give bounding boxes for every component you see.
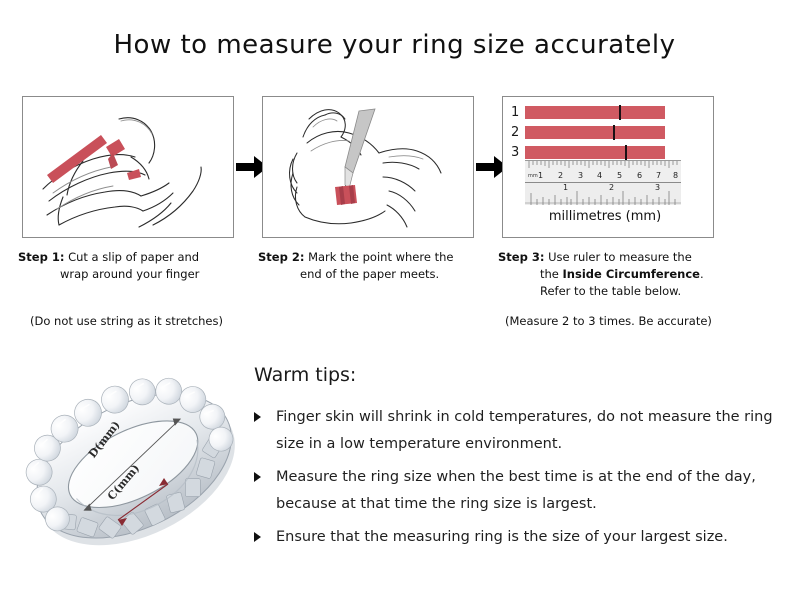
strip-row: 3 [511,144,707,161]
warm-tip-item: Finger skin will shrink in cold temperat… [254,404,774,458]
ruler-unit-mm: mm [528,173,538,179]
step-2-caption: Step 2: Mark the point where the end of … [258,249,488,283]
measured-strips-group: 1 2 3 [511,104,707,164]
paper-strip-on-finger-shape [335,185,357,205]
step-3-caption: Step 3: Use ruler to measure the the Ins… [498,249,748,300]
step-2-caption-line-2: end of the paper meets. [258,266,488,283]
ruler-metric-label: 1 [538,172,543,180]
strip-row: 2 [511,124,707,141]
warm-tip-text: Ensure that the measuring ring is the si… [276,529,728,545]
warm-tips-section: Warm tips: Finger skin will shrink in co… [254,364,774,557]
triangle-bullet-icon [254,532,261,542]
ruler-unit-caption: millimetres (mm) [503,209,707,224]
ruler-imperial-scale: 1 2 3 [525,183,681,205]
step-2-caption-line-1: Step 2: Mark the point where the [258,249,488,266]
step-1-lead: Step 1: [18,250,64,264]
ruler-metric-label: 5 [617,172,622,180]
strip-label: 1 [511,106,525,119]
step-1-caption-line-2: wrap around your finger [18,266,248,283]
ruler-metric-label: 8 [673,172,678,180]
strip-bar [525,106,665,119]
step-3-text-2-prefix: the [540,267,563,281]
strip-mark-tick [613,125,615,140]
warm-tip-item: Measure the ring size when the best time… [254,464,774,518]
hand-marking-paper-illustration [263,97,474,238]
warm-tip-text: Measure the ring size when the best time… [276,469,756,512]
strip-mark-tick [625,145,627,160]
ruler-metric-scale: mm 1 2 3 4 5 6 7 8 [525,161,681,183]
step-3-panel: 1 2 3 [502,96,714,238]
ruler-imperial-label: 3 [655,184,660,192]
ring-size-guide-page: How to measure your ring size accurately [0,0,789,606]
step-1-caption-line-1: Step 1: Cut a slip of paper and [18,249,248,266]
step-2-panel [262,96,474,238]
warm-tip-text: Finger skin will shrink in cold temperat… [276,409,773,452]
step-3-text-1: Use ruler to measure the [548,250,692,264]
strip-label: 3 [511,146,525,159]
triangle-bullet-icon [254,472,261,482]
step-3-lead: Step 3: [498,250,544,264]
ruler-metric-label: 2 [558,172,563,180]
step-3-caption-line-3: Refer to the table below. [498,283,748,300]
triangle-bullet-icon [254,412,261,422]
ruler-graphic: mm 1 2 3 4 5 6 7 8 1 2 3 [525,160,681,204]
warm-tips-heading: Warm tips: [254,364,774,386]
strip-mark-tick [619,105,621,120]
ruler-metric-label: 4 [597,172,602,180]
inside-circumference-emphasis: Inside Circumference [563,267,700,281]
ruler-imperial-label: 2 [609,184,614,192]
hand-with-paper-strip-illustration [23,97,234,238]
step-1-panel [22,96,234,238]
step-3-caption-line-1: Step 3: Use ruler to measure the [498,249,748,266]
pen-shape [345,109,375,195]
ring-diagram: D(mm) C(mm) [18,352,250,580]
strip-label: 2 [511,126,525,139]
step-2-text-1: Mark the point where the [308,250,453,264]
ruler-imperial-label: 1 [563,184,568,192]
step-3-text-2-suffix: . [700,267,704,281]
ruler-metric-label: 3 [578,172,583,180]
step-2-lead: Step 2: [258,250,304,264]
strip-row: 1 [511,104,707,121]
page-title: How to measure your ring size accurately [0,30,789,60]
ruler-metric-label: 7 [656,172,661,180]
ruler-metric-label: 6 [637,172,642,180]
step-3-note: (Measure 2 to 3 times. Be accurate) [505,314,712,328]
step-1-note: (Do not use string as it stretches) [30,314,223,328]
step-3-caption-line-2: the Inside Circumference. [498,266,748,283]
warm-tip-item: Ensure that the measuring ring is the si… [254,524,774,551]
step-panels-row: 1 2 3 [22,96,767,238]
step-1-caption: Step 1: Cut a slip of paper and wrap aro… [18,249,248,283]
strip-bar [525,146,665,159]
step-1-text-1: Cut a slip of paper and [68,250,199,264]
strip-bar [525,126,665,139]
